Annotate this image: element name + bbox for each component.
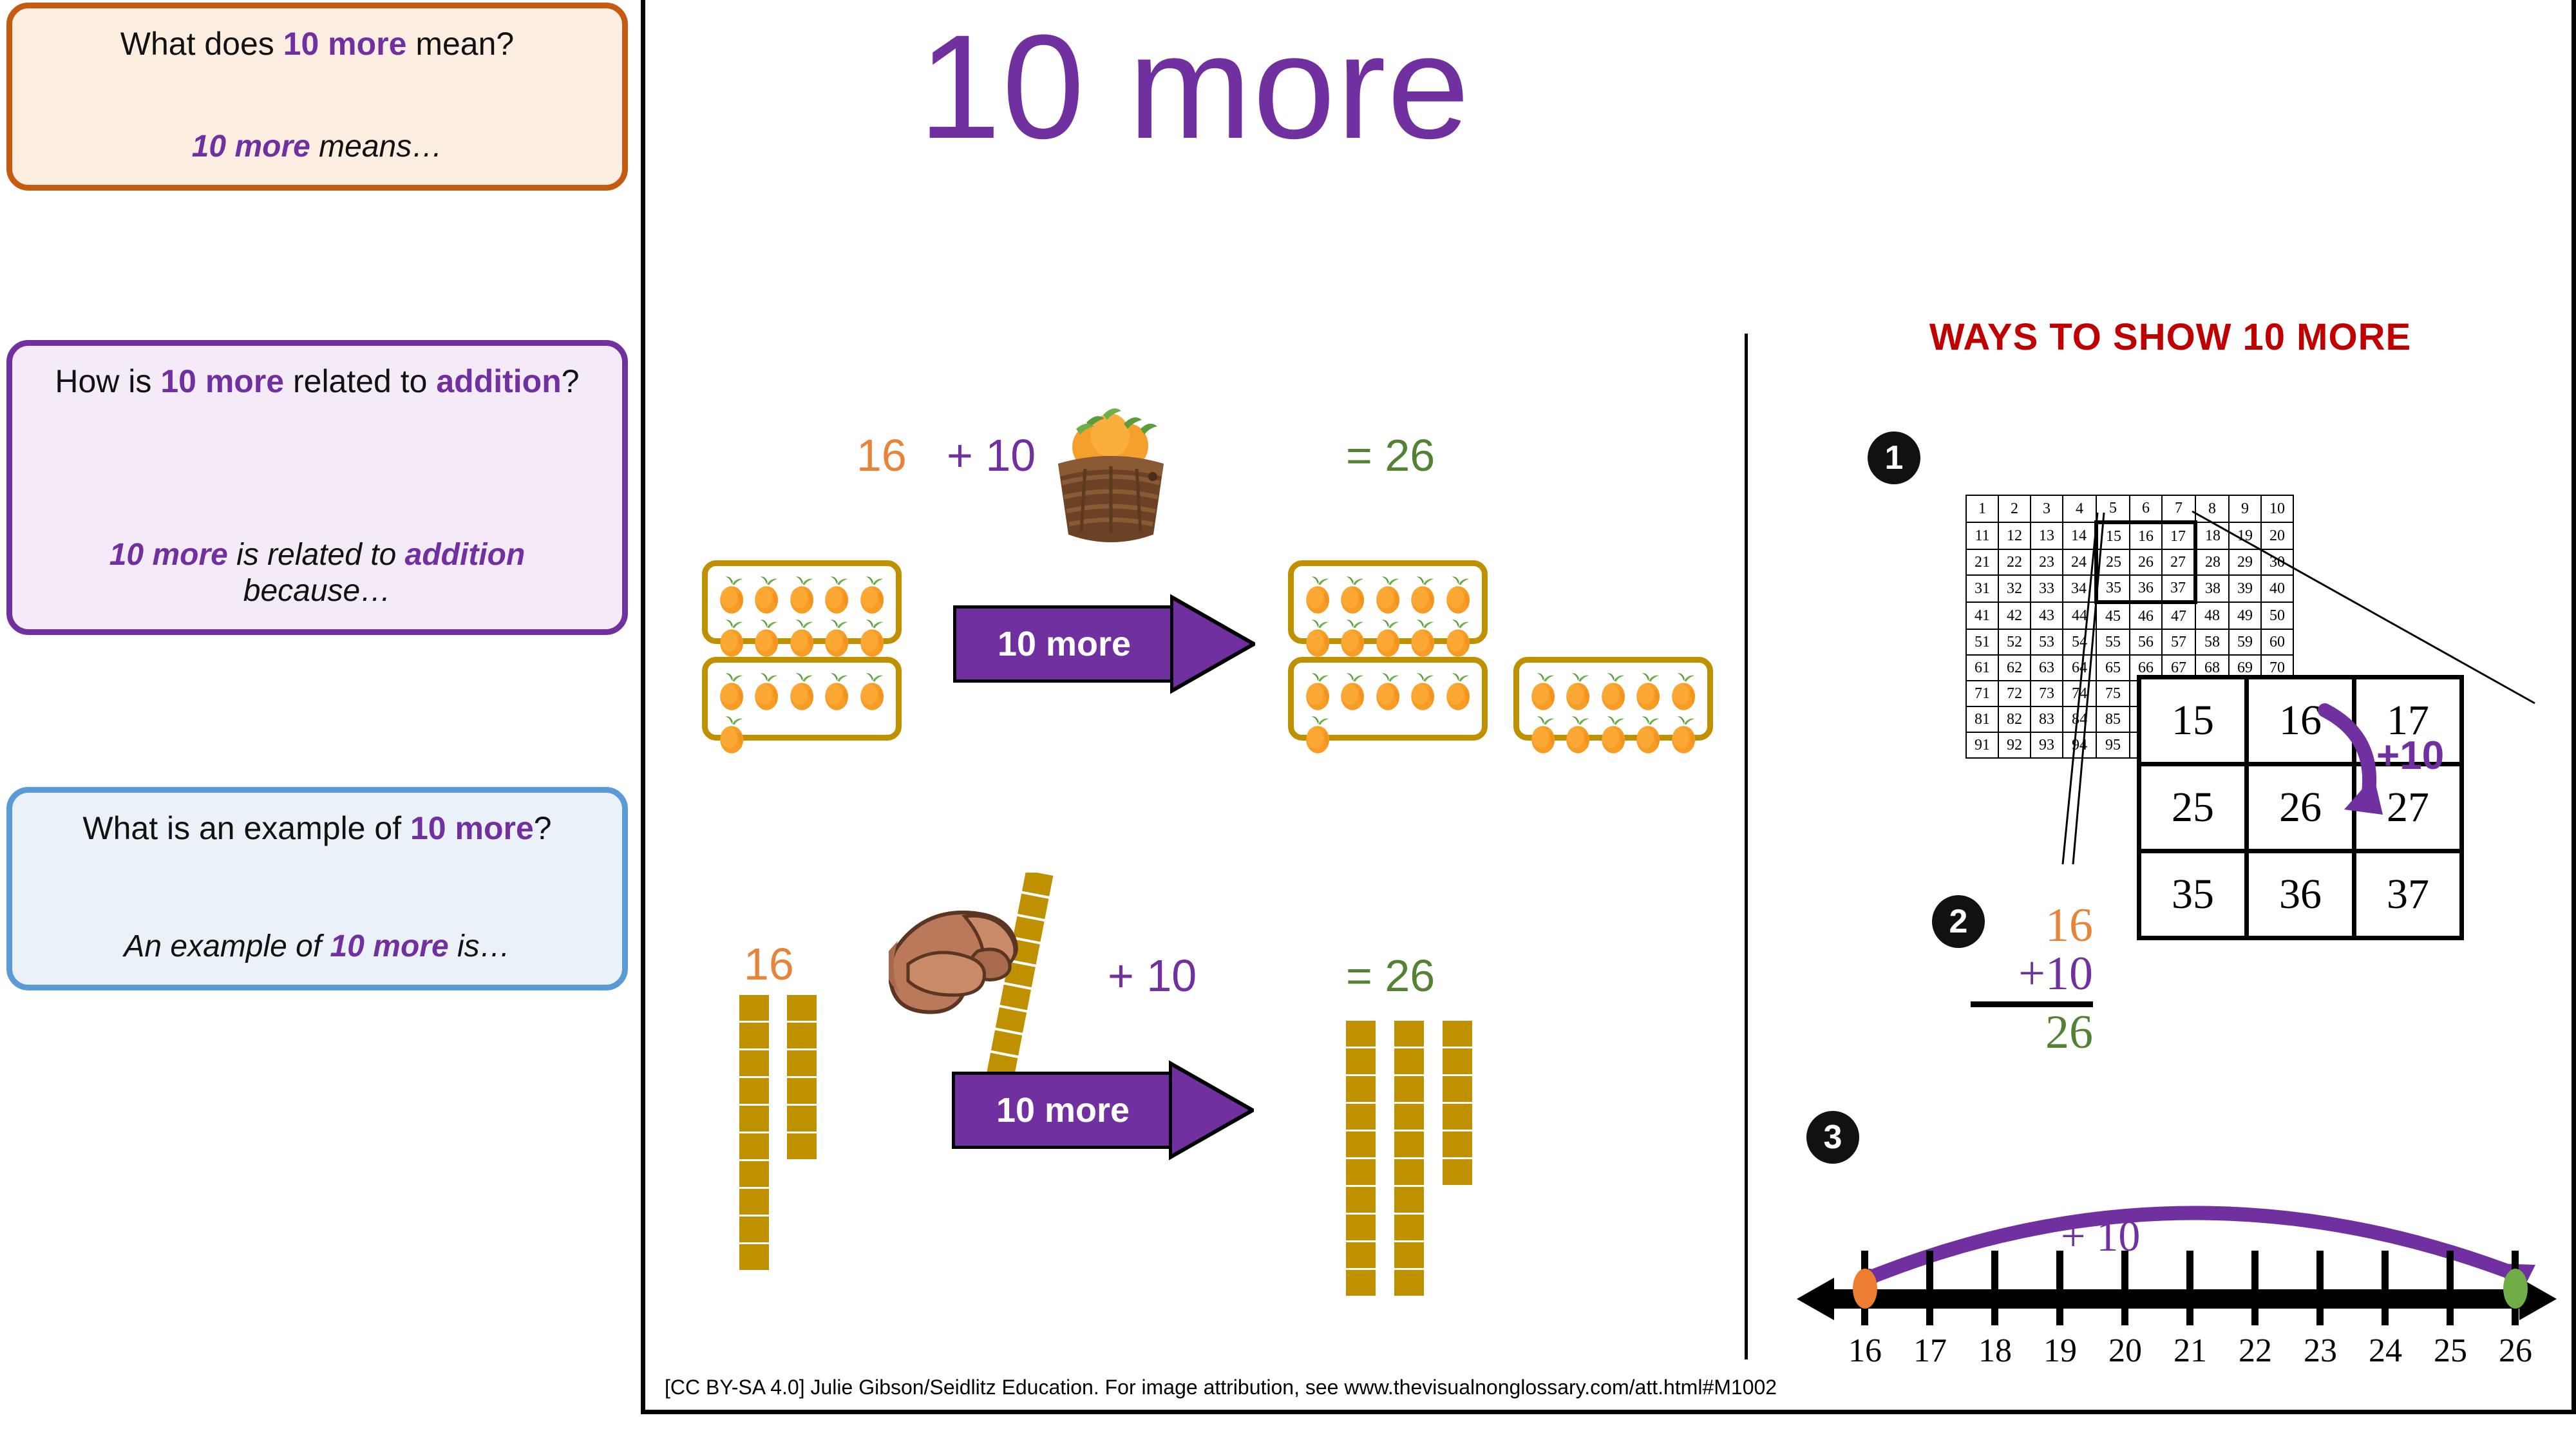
base-ten-unit [787, 1133, 817, 1159]
answer-suffix: means… [310, 129, 442, 164]
answer-prefix: An example of [124, 929, 330, 963]
orange-icon [1596, 672, 1631, 711]
hundreds-chart-cell[interactable]: 41 [1966, 602, 1998, 629]
orange-icon [1405, 619, 1440, 658]
number-line-tick [1926, 1251, 1933, 1325]
ten-frame-cell [1441, 614, 1475, 658]
hundreds-chart-cell[interactable]: 71 [1966, 681, 1998, 706]
zoom-panel-cell: 15 [2139, 677, 2247, 764]
panel-divider [1745, 334, 1748, 1359]
ten-frame-cell [714, 571, 749, 614]
ten-frame-cell [1526, 668, 1560, 711]
hundreds-chart-cell[interactable]: 62 [1998, 655, 2031, 681]
hundreds-chart-cell[interactable]: 52 [1998, 629, 2031, 655]
arrow-head-icon [1169, 1050, 1254, 1170]
oranges-equals: = 26 [1346, 433, 1435, 478]
sidebar: What does 10 more mean? 10 more means… H… [0, 0, 641, 1449]
base-ten-unit [1346, 1215, 1376, 1240]
base-ten-unit [739, 1023, 769, 1048]
orange-icon [1441, 576, 1475, 614]
hundreds-chart-cell[interactable]: 56 [2130, 629, 2162, 655]
base-ten-rod-result-1 [1346, 1021, 1376, 1298]
orange-icon [1405, 576, 1440, 614]
base-ten-unit [1394, 1215, 1424, 1240]
answer-stem-example: An example of 10 more is… [124, 929, 510, 965]
orange-icon [1300, 576, 1335, 614]
zoom-panel-cell: 25 [2139, 764, 2247, 851]
hundreds-chart-cell[interactable]: 12 [1998, 522, 2031, 549]
hundreds-chart-cell[interactable]: 92 [1998, 732, 2031, 758]
question-suffix: mean? [406, 26, 514, 62]
hundreds-chart-cell[interactable]: 1 [1966, 495, 1998, 522]
step-badge-3: 3 [1806, 1111, 1859, 1164]
base-ten-unit [739, 995, 769, 1021]
hundreds-chart-cell[interactable]: 21 [1966, 549, 1998, 575]
base-ten-unit [787, 1023, 817, 1048]
base-ten-unit [1346, 1132, 1376, 1157]
base-ten-unit [1394, 1187, 1424, 1213]
base-ten-unit [1346, 1048, 1376, 1074]
ten-frame-cell [749, 668, 784, 711]
number-line-label: 19 [2031, 1332, 2089, 1370]
base-ten-unit [739, 1161, 769, 1187]
ten-frame-partial-start [702, 657, 902, 741]
question-highlight-2: addition [436, 363, 561, 399]
step-badge-1: 1 [1868, 431, 1920, 484]
orange-icon [855, 672, 889, 711]
answer-highlight: 10 more [330, 929, 449, 963]
hundreds-chart-cell[interactable]: 32 [1998, 575, 2031, 602]
ten-frame-cell [714, 711, 749, 754]
question-highlight: 10 more [283, 26, 407, 62]
number-line-tick [2056, 1251, 2063, 1325]
orange-icon [1596, 715, 1631, 754]
base-ten-unit [787, 995, 817, 1021]
ten-frame-cell [1405, 614, 1440, 658]
number-line-label: 23 [2291, 1332, 2349, 1370]
number-line-tick [2121, 1251, 2128, 1325]
rods-addend: 16 [744, 942, 794, 987]
ten-frame-cell [1526, 711, 1560, 754]
zoom-panel-cell: 36 [2247, 851, 2354, 938]
base-ten-unit [739, 1189, 769, 1215]
base-ten-rod-start-1 [739, 995, 769, 1272]
orange-icon [1441, 619, 1475, 658]
zoom-panel-cell: 35 [2139, 851, 2247, 938]
orange-icon [1666, 715, 1701, 754]
number-line-end-dot [2503, 1269, 2528, 1309]
vertical-addition: 16 +10 26 [1971, 902, 2093, 1057]
ten-frame-cell [714, 668, 749, 711]
ten-more-arrow-label: 10 more [953, 605, 1172, 683]
rods-equals: = 26 [1346, 953, 1435, 998]
base-ten-unit [1346, 1270, 1376, 1296]
basket-of-oranges-icon [1046, 407, 1175, 555]
question-text-meaning: What does 10 more mean? [120, 25, 514, 63]
sidebar-divider [641, 0, 645, 1414]
ten-frame-cell [714, 614, 749, 658]
orange-icon [1300, 672, 1335, 711]
orange-icon [1335, 619, 1370, 658]
orange-icon [1560, 672, 1595, 711]
question-suffix: ? [534, 810, 552, 846]
orange-icon [784, 672, 819, 711]
base-ten-unit [1443, 1021, 1472, 1046]
orange-icon [1666, 672, 1701, 711]
orange-icon [1370, 576, 1405, 614]
number-line-label: 16 [1836, 1332, 1894, 1370]
ten-frame-cell [855, 571, 889, 614]
orange-icon [1526, 672, 1560, 711]
ten-frame-cell [784, 614, 819, 658]
base-ten-unit [739, 1106, 769, 1132]
zoom-panel-cell: 37 [2354, 851, 2462, 938]
ten-frame-full-result-2 [1513, 657, 1713, 741]
base-ten-unit [739, 1244, 769, 1270]
hundreds-chart-cell[interactable]: 42 [1998, 602, 2031, 629]
ten-frame-partial-result [1288, 657, 1488, 741]
hundreds-chart-cell[interactable]: 2 [1998, 495, 2031, 522]
answer-highlight: 10 more [192, 129, 310, 164]
hundreds-chart-cell[interactable]: 26 [2130, 549, 2162, 575]
ten-frame-cell [784, 571, 819, 614]
vertical-added: +10 [1971, 950, 2093, 998]
hundreds-chart-cell[interactable]: 51 [1966, 629, 1998, 655]
page-title: 10 more [650, 13, 1739, 161]
ten-frame-cell [1300, 614, 1335, 658]
question-highlight: 10 more [160, 363, 284, 399]
attribution-footer: [CC BY-SA 4.0] Julie Gibson/Seidlitz Edu… [665, 1376, 1777, 1399]
orange-icon [1405, 672, 1440, 711]
number-line-label: 21 [2161, 1332, 2219, 1370]
ten-frame-cell [1631, 711, 1665, 754]
arrow-head-icon [1170, 584, 1255, 704]
base-ten-unit [1394, 1242, 1424, 1268]
zoom-callout-left-line [2058, 509, 2109, 869]
ten-more-arrow-label-rods: 10 more [952, 1072, 1171, 1149]
question-text-example: What is an example of 10 more? [82, 810, 551, 848]
base-ten-unit [1394, 1159, 1424, 1185]
question-card-example[interactable]: What is an example of 10 more? An exampl… [6, 787, 628, 990]
base-ten-unit [1346, 1021, 1376, 1046]
orange-icon [1441, 672, 1475, 711]
number-line-tick [2447, 1251, 2454, 1325]
orange-icon [749, 672, 784, 711]
base-ten-rod-result-2 [1394, 1021, 1424, 1298]
number-line-label: 24 [2356, 1332, 2414, 1370]
answer-suffix: is… [449, 929, 511, 963]
orange-icon [714, 715, 749, 754]
number-line-label: 25 [2421, 1332, 2479, 1370]
vertical-sum: 26 [1971, 1009, 2093, 1057]
hand-holding-rod-icon [889, 873, 1101, 1104]
base-ten-rod-result-3 [1443, 1021, 1472, 1187]
answer-middle: is related to [228, 538, 405, 572]
ten-frame-cell [749, 571, 784, 614]
orange-icon [855, 576, 889, 614]
base-ten-unit [1443, 1076, 1472, 1102]
ten-frame-cell [1405, 668, 1440, 711]
orange-icon [749, 619, 784, 658]
zoom-plus-ten-label: +10 [2376, 733, 2444, 779]
base-ten-unit [1394, 1270, 1424, 1296]
hundreds-chart-cell[interactable]: 31 [1966, 575, 1998, 602]
ten-frame-cell [784, 668, 819, 711]
ten-frame-cell [819, 668, 854, 711]
number-line-tick [2186, 1251, 2193, 1325]
rods-operator: + 10 [1108, 953, 1197, 998]
base-ten-unit [1443, 1104, 1472, 1130]
ten-frame-cell [855, 614, 889, 658]
number-line-tick [2382, 1251, 2389, 1325]
question-highlight: 10 more [410, 810, 534, 846]
orange-icon [819, 619, 854, 658]
ten-more-arrow-rods: 10 more [952, 1072, 1255, 1149]
answer-highlight-2: addition [405, 538, 526, 572]
vertical-addend: 16 [1971, 902, 2093, 950]
orange-icon [714, 619, 749, 658]
vertical-added-value: 10 [2045, 947, 2093, 1000]
ten-frame-cell [1370, 614, 1405, 658]
base-ten-rod-start-2 [787, 995, 817, 1161]
base-ten-unit [1346, 1076, 1376, 1102]
base-ten-unit [1346, 1159, 1376, 1185]
hundreds-chart-cell[interactable]: 81 [1966, 706, 1998, 732]
right-border [2571, 0, 2576, 1414]
base-ten-unit [1394, 1021, 1424, 1046]
question-text-relation: How is 10 more related to addition? [55, 363, 579, 401]
number-line-label: 18 [1966, 1332, 2024, 1370]
ten-frame-cell [1335, 571, 1370, 614]
orange-icon [1631, 672, 1665, 711]
question-suffix: ? [562, 363, 580, 399]
orange-icon [855, 619, 889, 658]
ten-frame-cell [1370, 571, 1405, 614]
base-ten-unit [739, 1050, 769, 1076]
question-prefix: What does [120, 26, 283, 62]
ways-to-show-heading: WAYS TO SHOW 10 MORE [1777, 316, 2563, 359]
base-ten-unit [1394, 1104, 1424, 1130]
ten-frame-cell [1631, 668, 1665, 711]
question-middle: related to [284, 363, 436, 399]
number-line-label: 17 [1901, 1332, 1959, 1370]
ten-frame-full-result-1 [1288, 560, 1488, 644]
ten-frame-cell [1370, 668, 1405, 711]
number-line-label: 26 [2486, 1332, 2544, 1370]
oranges-operator: + 10 [947, 433, 1036, 478]
number-line-start-dot [1853, 1269, 1877, 1309]
ten-frame-cell [1441, 571, 1475, 614]
hundreds-chart-cell[interactable]: 72 [1998, 681, 2031, 706]
number-line[interactable]: 1617181920212223242526 [1861, 1275, 2550, 1314]
orange-icon [819, 672, 854, 711]
ten-frame-cell [1335, 668, 1370, 711]
hundreds-chart-cell[interactable]: 36 [2130, 575, 2162, 602]
ten-frame-cell [819, 571, 854, 614]
number-line-label: 22 [2226, 1332, 2284, 1370]
base-ten-unit [1346, 1104, 1376, 1130]
ten-frame-cell [1560, 711, 1595, 754]
vertical-operator: + [2018, 947, 2045, 1000]
ten-frame-cell [1596, 668, 1631, 711]
answer-stem-relation: 10 more is related to addition because… [34, 537, 600, 610]
base-ten-unit [1443, 1048, 1472, 1074]
ten-frame-cell [1666, 711, 1701, 754]
hundreds-chart-cell[interactable]: 61 [1966, 655, 1998, 681]
ten-more-arrow-oranges: 10 more [953, 605, 1256, 683]
question-card-meaning[interactable]: What does 10 more mean? 10 more means… [6, 3, 628, 191]
orange-icon [1300, 619, 1335, 658]
hundreds-chart-cell[interactable]: 11 [1966, 522, 1998, 549]
orange-icon [1300, 715, 1335, 754]
base-ten-unit [1394, 1048, 1424, 1074]
ten-frame-cell [1300, 668, 1335, 711]
base-ten-unit [1346, 1187, 1376, 1213]
orange-icon [1370, 619, 1405, 658]
question-prefix: What is an example of [82, 810, 410, 846]
hundreds-chart-cell[interactable]: 22 [1998, 549, 2031, 575]
base-ten-unit [1443, 1159, 1472, 1185]
ten-frame-cell [819, 614, 854, 658]
answer-suffix: because… [243, 574, 391, 608]
number-line-tick [2316, 1251, 2324, 1325]
orange-icon [714, 672, 749, 711]
ten-frame-cell [1405, 571, 1440, 614]
ten-frame-full-start [702, 560, 902, 644]
base-ten-unit [1443, 1132, 1472, 1157]
question-card-relation[interactable]: How is 10 more related to addition? 10 m… [6, 340, 628, 635]
hundreds-chart-cell[interactable]: 16 [2130, 522, 2162, 549]
hundreds-chart-cell[interactable]: 82 [1998, 706, 2031, 732]
ten-frame-cell [749, 614, 784, 658]
base-ten-unit [787, 1050, 817, 1076]
orange-icon [819, 576, 854, 614]
ten-frame-cell [1335, 614, 1370, 658]
ten-frame-cell [855, 668, 889, 711]
base-ten-unit [787, 1078, 817, 1104]
orange-icon [1335, 672, 1370, 711]
ten-frame-cell [1300, 571, 1335, 614]
answer-highlight: 10 more [109, 538, 228, 572]
answer-stem-meaning: 10 more means… [192, 129, 443, 166]
question-prefix: How is [55, 363, 160, 399]
hundreds-chart-cell[interactable]: 46 [2130, 602, 2162, 629]
orange-icon [784, 619, 819, 658]
oranges-addend: 16 [857, 433, 907, 478]
orange-icon [1560, 715, 1595, 754]
orange-icon [784, 576, 819, 614]
ten-frame-cell [1596, 711, 1631, 754]
base-ten-unit [739, 1078, 769, 1104]
ten-frame-cell [1560, 668, 1595, 711]
base-ten-unit [1394, 1076, 1424, 1102]
hundreds-chart-cell[interactable]: 6 [2130, 495, 2162, 522]
number-line-label: 20 [2096, 1332, 2154, 1370]
base-ten-unit [739, 1133, 769, 1159]
orange-icon [714, 576, 749, 614]
number-line-tick [2251, 1251, 2259, 1325]
orange-icon [749, 576, 784, 614]
hundreds-chart-cell[interactable]: 91 [1966, 732, 1998, 758]
base-ten-unit [1394, 1132, 1424, 1157]
zoom-panel-row: 353637 [2139, 851, 2462, 938]
ten-frame-cell [1666, 668, 1701, 711]
orange-icon [1335, 576, 1370, 614]
ten-frame-cell [1441, 668, 1475, 711]
ten-frame-cell [1300, 711, 1335, 754]
orange-icon [1370, 672, 1405, 711]
footer-divider [641, 1410, 2576, 1414]
base-ten-unit [739, 1217, 769, 1242]
orange-icon [1526, 715, 1560, 754]
orange-icon [1631, 715, 1665, 754]
number-line-tick [1991, 1251, 1998, 1325]
base-ten-unit [1346, 1242, 1376, 1268]
base-ten-unit [787, 1106, 817, 1132]
